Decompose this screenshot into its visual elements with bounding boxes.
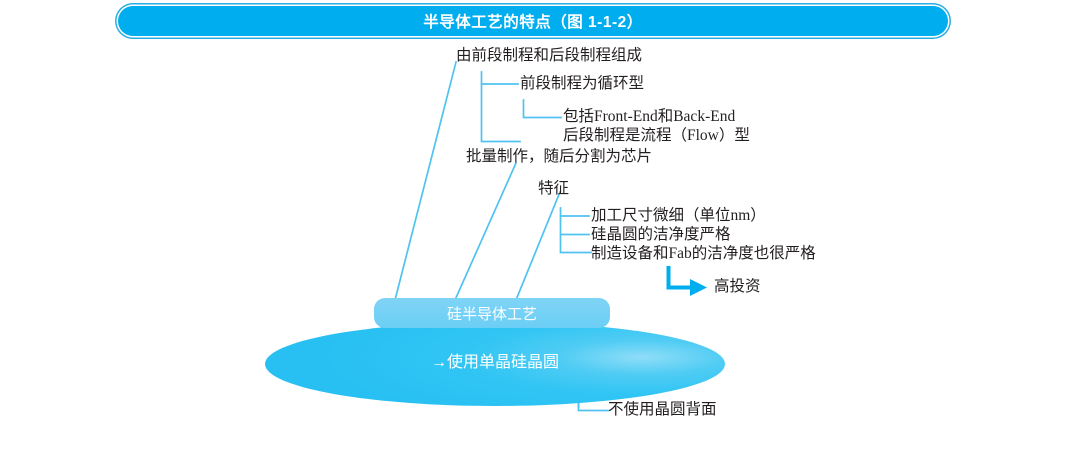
node-feature-1: 加工尺寸微细（单位nm） <box>591 206 766 225</box>
node-features-title: 特征 <box>538 179 569 198</box>
leader-line-batch-dice <box>455 163 516 300</box>
node-no-backside: 不使用晶圆背面 <box>608 400 717 419</box>
diagram-title-banner: 半导体工艺的特点（图 1-1-2） <box>118 6 948 36</box>
node-back-end-flow: 后段制程是流程（Flow）型 <box>563 126 750 145</box>
node-feature-2: 硅晶圆的洁净度严格 <box>591 225 731 244</box>
node-includes-front-back: 包括Front-End和Back-End <box>563 107 735 126</box>
node-composed-of: 由前段制程和后段制程组成 <box>456 46 642 65</box>
node-front-end-cyclic: 前段制程为循环型 <box>520 74 644 93</box>
bracket-composed-of <box>482 72 521 142</box>
diagram-canvas: 半导体工艺的特点（图 1-1-2） 由前段制程和后段制程组成 前段制程为循环型 … <box>0 0 1066 461</box>
leader-line-composed-of <box>395 62 456 300</box>
ellipse-label-use-mono-wafer: →使用单晶硅晶圆 <box>265 348 725 372</box>
page-title: 半导体工艺的特点（图 1-1-2） <box>423 10 643 32</box>
bracket-front-end-cyclic <box>524 100 562 118</box>
node-feature-3: 制造设备和Fab的洁净度也很严格 <box>591 244 816 263</box>
node-batch-then-dice: 批量制作，随后分割为芯片 <box>466 147 652 166</box>
elbow-arrow-high-investment <box>669 266 708 296</box>
node-high-investment: 高投资 <box>714 277 761 296</box>
leader-line-features <box>516 192 560 300</box>
bracket-features <box>561 208 592 253</box>
bar-label-silicon-process: 硅半导体工艺 <box>374 303 610 324</box>
